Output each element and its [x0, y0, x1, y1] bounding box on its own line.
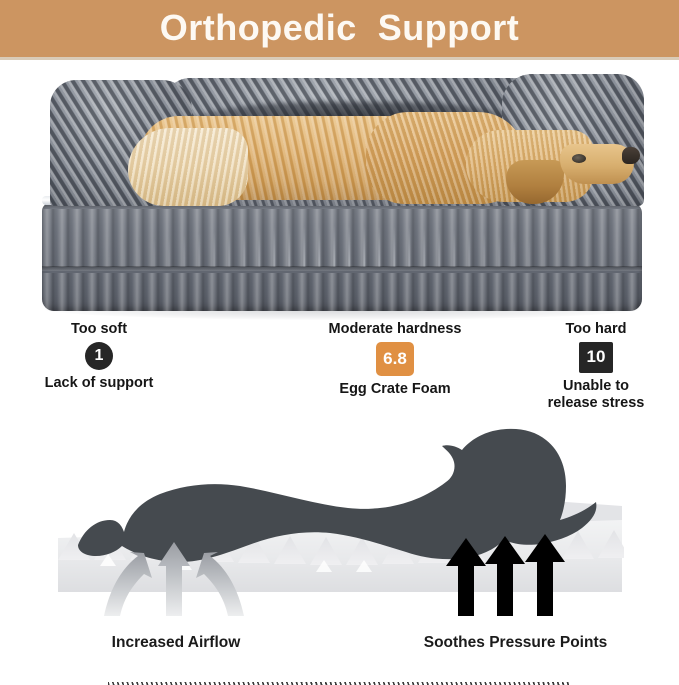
hardness-scale: Too soft 1 Lack of support Moderate hard… — [0, 322, 679, 418]
scale-stop-bottom-label: Egg Crate Foam — [312, 381, 478, 398]
diagram-captions: Increased Airflow Soothes Pressure Point… — [0, 634, 679, 652]
scale-stop-bottom-label: Lack of support — [26, 375, 172, 392]
scale-marker-10: 10 — [579, 342, 613, 373]
scale-stop-top-label: Too hard — [530, 322, 662, 338]
dog-rump — [128, 128, 248, 206]
scale-stop-top-label: Moderate hardness — [312, 322, 478, 338]
golden-retriever — [36, 68, 648, 313]
caption-increased-airflow: Increased Airflow — [0, 634, 352, 652]
page-title: Orthopedic Support — [160, 10, 519, 46]
product-photo — [0, 60, 679, 318]
foam-support-diagram — [0, 420, 679, 660]
scale-stop-top-label: Too soft — [26, 322, 172, 338]
dog-bed — [36, 68, 648, 313]
scale-stop-too-soft: Too soft 1 Lack of support — [26, 322, 172, 392]
caption-soothes-pressure-points: Soothes Pressure Points — [352, 634, 679, 652]
scale-marker-1: 1 — [85, 342, 113, 370]
scale-stop-bottom-label: Unable to release stress — [530, 378, 662, 412]
dog-nose — [622, 147, 640, 164]
scale-stop-too-hard: Too hard 10 Unable to release stress — [530, 322, 662, 412]
dog-eye — [572, 154, 586, 163]
scale-marker-6-8: 6.8 — [376, 342, 414, 376]
scale-stop-moderate: Moderate hardness 6.8 Egg Crate Foam — [312, 322, 478, 398]
foam-illustration — [0, 420, 679, 620]
header-banner: Orthopedic Support — [0, 0, 679, 57]
pressure-arrows — [446, 534, 565, 616]
